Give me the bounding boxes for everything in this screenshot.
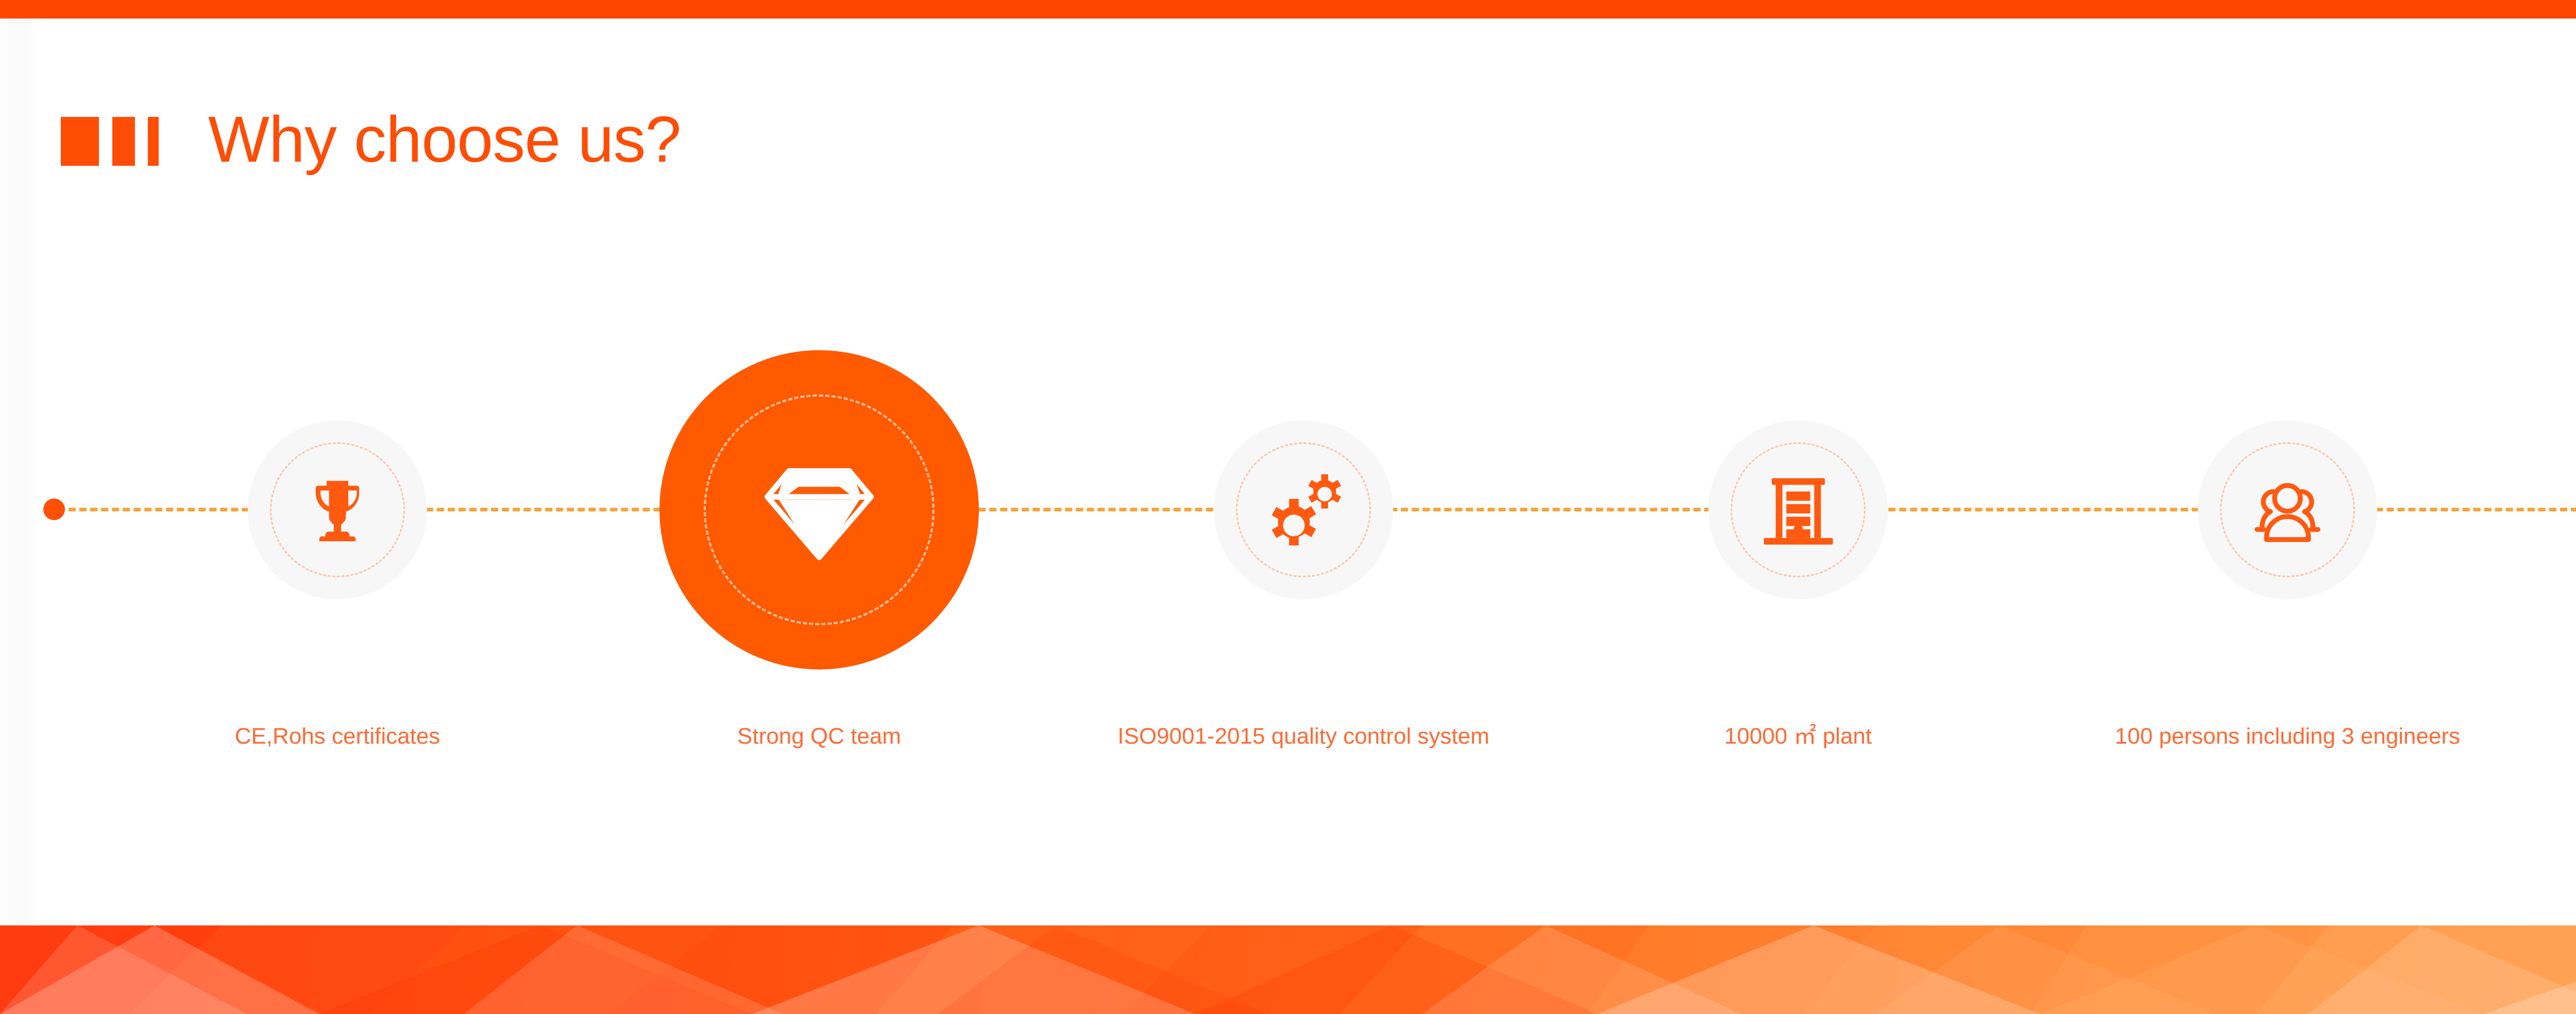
slide-title-row: Why choose us?: [61, 101, 681, 178]
node-caption-staff: 100 persons including 3 engineers: [2115, 723, 2460, 750]
node-circle: [1708, 420, 1888, 599]
timeline-dashed-track: [58, 508, 2576, 511]
trophy-icon: [299, 471, 376, 548]
people-icon: [2244, 467, 2331, 553]
title-bar-medium: [112, 117, 135, 166]
node-circle: [1214, 420, 1393, 599]
low-poly-pattern: [0, 925, 2576, 1014]
node-dashed-ring: [1236, 442, 1371, 577]
timeline-left-endpoint-dot: [43, 499, 65, 520]
building-icon: [1756, 468, 1841, 553]
node-circle: [248, 420, 427, 599]
top-accent-bar: [0, 0, 2576, 19]
node-dashed-ring: [1731, 442, 1866, 577]
node-circle-highlighted: [659, 350, 979, 669]
title-bar-narrow: [148, 117, 159, 166]
title-bars-decoration: [61, 117, 159, 166]
node-caption-qc-team: Strong QC team: [737, 723, 901, 750]
node-dashed-ring: [270, 442, 405, 577]
node-circle: [2198, 420, 2377, 599]
bottom-polygon-band: [0, 925, 2576, 1014]
slide-canvas: Why choose us?: [0, 0, 2576, 1014]
node-dashed-ring: [2220, 442, 2355, 577]
diamond-icon: [750, 441, 888, 579]
left-edge-wash: [0, 19, 38, 925]
title-bar-wide: [61, 117, 99, 166]
node-caption-iso-system: ISO9001-2015 quality control system: [1117, 723, 1489, 750]
node-caption-certificates: CE,Rohs certificates: [235, 723, 440, 750]
gears-icon: [1260, 466, 1347, 554]
node-caption-plant: 10000 ㎡ plant: [1724, 723, 1872, 750]
node-dashed-ring: [704, 394, 935, 625]
page-title: Why choose us?: [208, 107, 681, 172]
